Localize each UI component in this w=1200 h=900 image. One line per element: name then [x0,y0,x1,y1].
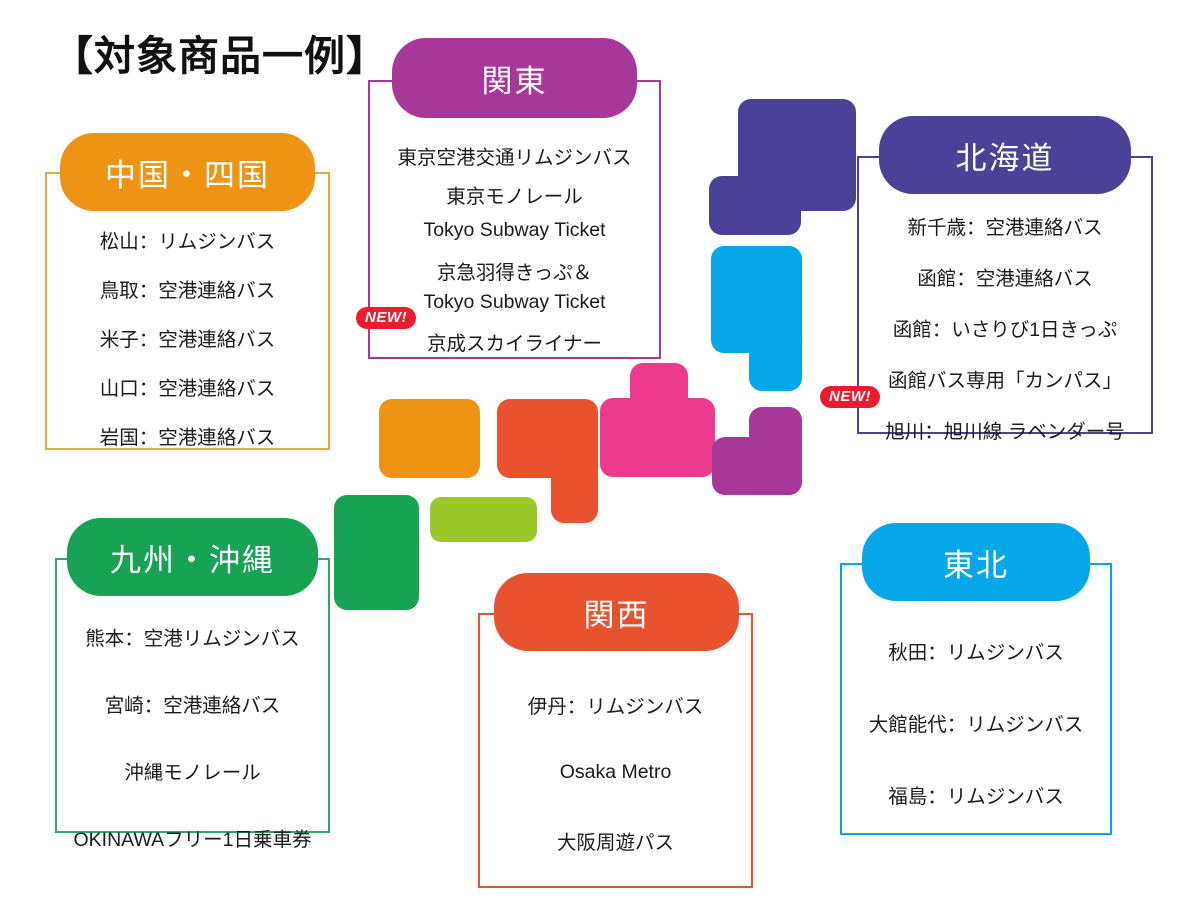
map-block-shikoku [430,497,537,542]
list-item: 宮崎：空港連絡バス [105,689,281,718]
list-item: 東京空港交通リムジンバス [397,141,631,170]
region-title-kanto[interactable]: 関東 [392,38,637,118]
list-item: 米子：空港連絡バス [100,323,276,352]
region-title-hokkaido[interactable]: 北海道 [879,116,1131,194]
region-card-hokkaido: 北海道 新千歳：空港連絡バス 函館：空港連絡バス 函館：いさりび1日きっぷ 函館… [857,116,1153,434]
region-card-tohoku: 東北 秋田：リムジンバス 大館能代：リムジンバス 福島：リムジンバス [840,523,1112,835]
map-block-kansai-tail [551,449,598,523]
list-item: 大阪周遊パス [557,826,674,855]
new-badge-hokkaido: NEW! [820,386,880,408]
region-title-tohoku[interactable]: 東北 [862,523,1090,601]
region-items-kyushu-okinawa: 熊本：空港リムジンバス 宮崎：空港連絡バス 沖縄モノレール OKINAWAフリー… [55,622,330,852]
list-item: 秋田：リムジンバス [888,636,1064,665]
list-item: 東京モノレール [446,180,583,209]
page-title: 【対象商品一例】 [52,22,388,82]
region-items-kansai: 伊丹：リムジンバス Osaka Metro 大阪周遊パス [478,690,753,855]
list-item: 熊本：空港リムジンバス [85,622,300,651]
list-item: 大館能代：リムジンバス [869,708,1084,737]
map-block-chubu-lower [712,437,802,495]
region-items-tohoku: 秋田：リムジンバス 大館能代：リムジンバス 福島：リムジンバス [840,636,1112,809]
list-item-new: 旭川：旭川線 ラベンダー号 [885,415,1124,444]
list-item: 伊丹：リムジンバス [528,690,704,719]
infographic-canvas: 【対象商品一例】 中国・四国 松山：リムジンバス 鳥取：空港連絡バス 米子：空港… [0,0,1200,900]
region-title-kyushu-okinawa[interactable]: 九州・沖縄 [67,518,318,596]
map-block-kanto-lower [600,398,715,477]
list-item: 松山：リムジンバス [100,225,276,254]
list-item: 函館バス専用「カンパス」 [888,364,1122,393]
list-item: 福島：リムジンバス [888,780,1064,809]
list-item: 山口：空港連絡バス [100,372,276,401]
region-card-kansai: 関西 伊丹：リムジンバス Osaka Metro 大阪周遊パス [478,573,753,888]
list-item: 鳥取：空港連絡バス [100,274,276,303]
list-item: 函館：いさりび1日きっぷ [893,313,1118,342]
region-title-chugoku-shikoku[interactable]: 中国・四国 [60,133,315,211]
new-badge-kanto: NEW! [356,307,416,329]
list-item: 新千歳：空港連絡バス [907,211,1102,240]
map-block-tohoku-tail [749,330,802,391]
list-item: Tokyo Subway Ticket [423,291,605,314]
map-block-kyushu [334,495,419,610]
region-card-kyushu-okinawa: 九州・沖縄 熊本：空港リムジンバス 宮崎：空港連絡バス 沖縄モノレール OKIN… [55,518,330,833]
list-item: Tokyo Subway Ticket [423,219,605,242]
list-item: 函館：空港連絡バス [917,262,1093,291]
region-card-chugoku-shikoku: 中国・四国 松山：リムジンバス 鳥取：空港連絡バス 米子：空港連絡バス 山口：空… [45,133,330,450]
list-item: OKINAWAフリー1日乗車券 [74,823,312,852]
map-block-chugoku [379,399,480,478]
list-item: 沖縄モノレール [124,756,261,785]
region-card-kanto: 関東 東京空港交通リムジンバス 東京モノレール Tokyo Subway Tic… [368,38,661,359]
list-item: 岩国：空港連絡バス [100,421,276,450]
list-item: 京急羽得きっぷ＆ [437,256,592,285]
map-block-hokkaido-tail [709,176,801,235]
list-item-new: 京成スカイライナー [427,327,602,356]
region-items-chugoku-shikoku: 松山：リムジンバス 鳥取：空港連絡バス 米子：空港連絡バス 山口：空港連絡バス … [45,225,330,450]
region-title-kansai[interactable]: 関西 [494,573,739,651]
region-items-hokkaido: 新千歳：空港連絡バス 函館：空港連絡バス 函館：いさりび1日きっぷ 函館バス専用… [857,211,1153,444]
list-item: Osaka Metro [560,761,672,784]
